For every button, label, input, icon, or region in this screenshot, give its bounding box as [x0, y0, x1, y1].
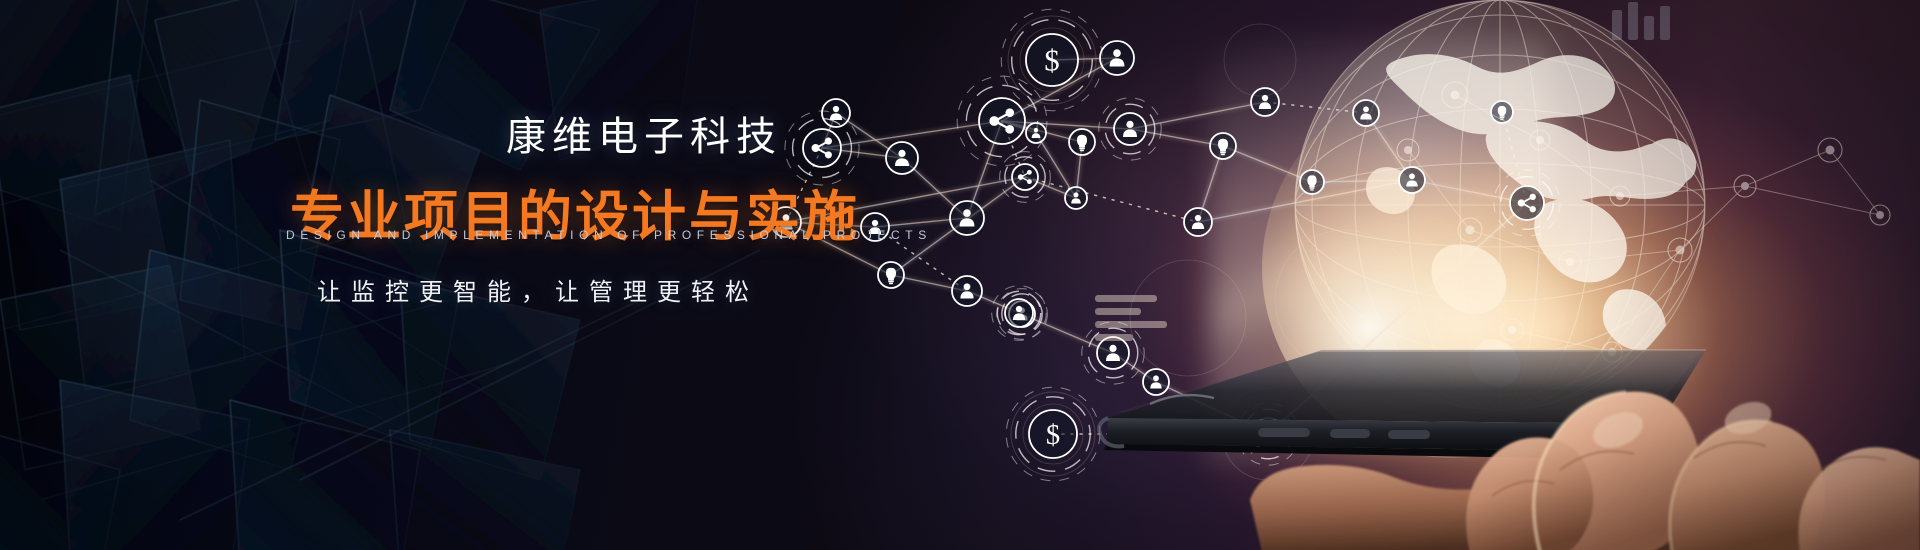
node-disc: [1353, 100, 1379, 126]
node-disc: [1026, 123, 1046, 143]
network-node-user[interactable]: [1065, 187, 1087, 209]
network-node-user[interactable]: [886, 142, 918, 174]
network-node-lightbulb[interactable]: [1069, 129, 1095, 155]
node-disc: [1005, 299, 1033, 327]
node-disc: [950, 201, 984, 235]
dollar-icon: $: [1044, 43, 1059, 78]
network-node-user[interactable]: [952, 276, 982, 306]
node-disc: [1065, 187, 1087, 209]
network-node-lightbulb[interactable]: [1491, 101, 1513, 123]
network-node-user[interactable]: [1353, 100, 1379, 126]
node-disc: [886, 142, 918, 174]
node-disc: [1399, 167, 1425, 193]
svg-text:$: $: [1046, 420, 1060, 451]
node-disc: [1100, 41, 1134, 75]
node-disc: [1251, 88, 1279, 116]
network-node-user[interactable]: [1143, 369, 1169, 395]
network-node-user[interactable]: [1251, 88, 1279, 116]
node-disc: [1114, 113, 1146, 145]
network-node-user[interactable]: [950, 201, 984, 235]
network-node-user[interactable]: [1399, 167, 1425, 193]
node-disc: [1097, 337, 1129, 369]
node-disc: [803, 129, 841, 167]
tagline: 让监控更智能，让管理更轻松: [284, 272, 792, 307]
network-node-user[interactable]: [1184, 208, 1212, 236]
network-node-lightbulb[interactable]: [1210, 133, 1236, 159]
hero-banner: $$: [0, 0, 1920, 550]
node-disc: [1184, 208, 1212, 236]
subtitle-english: DESIGN AND IMPLEMENTATION OF PROFESSIONA…: [286, 228, 798, 242]
network-node-lightbulb[interactable]: [1300, 170, 1324, 194]
company-name: 康维电子科技: [0, 104, 782, 162]
network-node-lightbulb[interactable]: [878, 262, 904, 288]
node-disc: [1012, 164, 1038, 190]
dollar-icon: $: [1046, 420, 1060, 451]
svg-text:$: $: [1044, 43, 1059, 78]
network-node-user[interactable]: [1026, 123, 1046, 143]
node-disc: [952, 276, 982, 306]
network-node-user[interactable]: [1100, 41, 1134, 75]
node-disc: [979, 98, 1025, 144]
node-disc: [1510, 186, 1544, 220]
node-disc: [1143, 369, 1169, 395]
